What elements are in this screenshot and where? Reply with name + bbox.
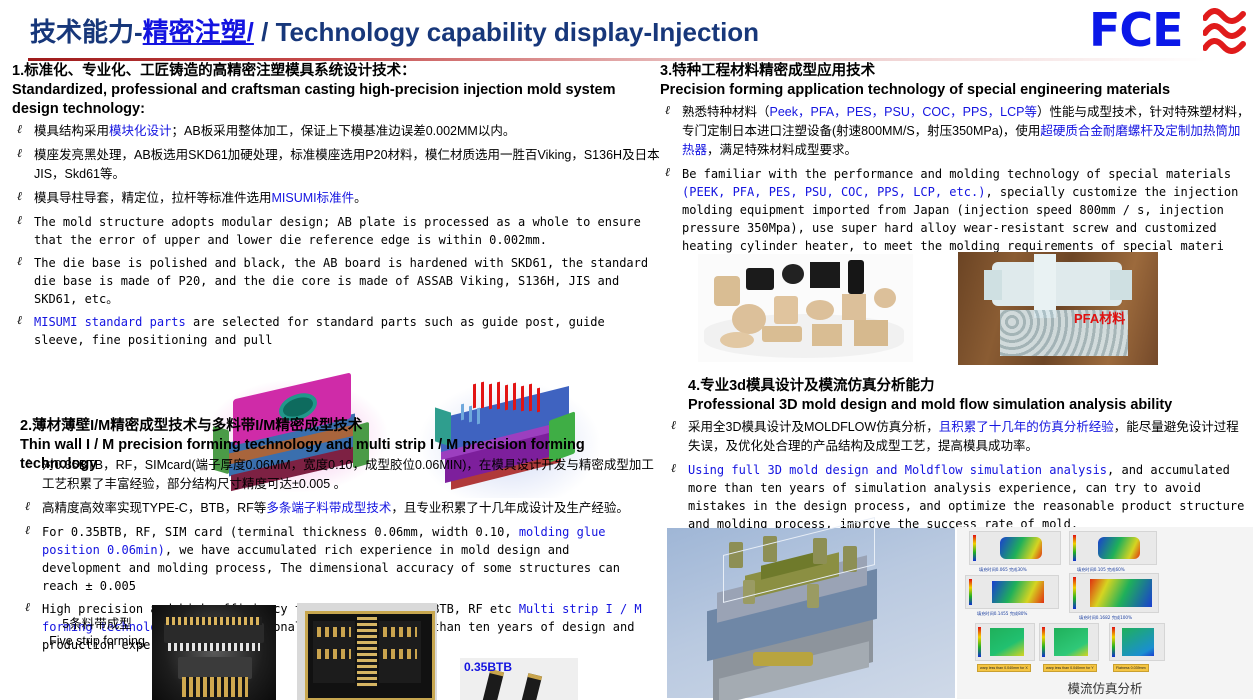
bullet-marker: ℓ bbox=[17, 254, 22, 269]
moldflow-cell-label: 填充时间0.1682 完成100% bbox=[1079, 615, 1132, 621]
bullet-text-run: ，且专业积累了十几年成设计及生产经验。 bbox=[391, 501, 629, 515]
bullet-item: ℓ高精度高效率实现TYPE-C，BTB，RF等多条端子料带成型技术，且专业积累了… bbox=[20, 499, 656, 518]
bullet-text: 模座发亮黑处理，AB板选用SKD61加硬处理，标准模座选用P20材料，模仁材质选… bbox=[34, 148, 660, 181]
bullet-marker: ℓ bbox=[25, 499, 30, 514]
logo-wordmark: FCE bbox=[1089, 4, 1183, 56]
bullet-text-run: 模座发亮黑处理，AB板选用SKD61加硬处理，标准模座选用P20材料，模仁材质选… bbox=[34, 148, 660, 181]
bullet-text: Using full 3D mold design and Moldflow s… bbox=[688, 463, 1244, 531]
bullet-text-run: ，满足特殊材料成型要求。 bbox=[707, 143, 857, 157]
moldflow-cell-label: 填充时间0.1455 完成80% bbox=[977, 611, 1027, 617]
connector-terminal-strip-photo bbox=[152, 605, 276, 700]
bullet-item: ℓUsing full 3D mold design and Moldflow … bbox=[666, 461, 1248, 533]
page-title: 技术能力-精密注塑/ / Technology capability displ… bbox=[30, 12, 759, 49]
bullet-text-run: 模块化设计 bbox=[109, 124, 172, 138]
bullet-marker: ℓ bbox=[25, 523, 30, 538]
moldflow-cell bbox=[1069, 531, 1157, 565]
bullet-marker: ℓ bbox=[17, 122, 22, 137]
wave-lines-icon bbox=[1203, 8, 1247, 54]
moldflow-cell bbox=[965, 575, 1059, 609]
bullet-item: ℓ模具导柱导套，精定位，拉杆等标准件选用MISUMI标准件。 bbox=[12, 189, 660, 208]
moldflow-tag: Flatness 0.039mm bbox=[1113, 664, 1149, 672]
peek-parts-photo bbox=[698, 254, 913, 362]
bullet-marker: ℓ bbox=[17, 213, 22, 228]
moldflow-cell bbox=[1039, 623, 1099, 661]
section-1-heading-en: Standardized, professional and craftsman… bbox=[12, 81, 660, 119]
connector-tray-photo bbox=[297, 603, 437, 700]
bullet-text-run: The die base is polished and black, the … bbox=[34, 256, 648, 306]
fce-logo: FCE bbox=[1089, 4, 1249, 56]
bullet-item: ℓ采用全3D模具设计及MOLDFLOW仿真分析，且积累了十几年的仿真分析经验，能… bbox=[666, 418, 1248, 456]
moldflow-cell bbox=[975, 623, 1035, 661]
section-4: 4.专业3d模具设计及模流仿真分析能力 Professional 3D mold… bbox=[688, 377, 1248, 538]
mold-3d-cad-render bbox=[667, 528, 955, 698]
section-4-bullets: ℓ采用全3D模具设计及MOLDFLOW仿真分析，且积累了十几年的仿真分析经验，能… bbox=[666, 418, 1248, 533]
bullet-text-run: High precision and high efficiency to ac… bbox=[42, 602, 519, 616]
bullet-text: MISUMI standard parts are selected for s… bbox=[34, 315, 605, 347]
section-3-bullets: ℓ熟悉特种材料（Peek，PFA，PES，PSU，COC，PPS，LCP等）性能… bbox=[660, 103, 1252, 255]
moldflow-tag: warp less than 0.040mm for Y bbox=[1043, 664, 1097, 672]
bullet-marker: ℓ bbox=[17, 189, 22, 204]
bullet-text-run: (PEEK, PFA, PES, PSU, COC, PPS, LCP, etc… bbox=[682, 185, 985, 199]
bullet-text: 采用全3D模具设计及MOLDFLOW仿真分析，且积累了十几年的仿真分析经验，能尽… bbox=[688, 420, 1239, 453]
bullet-text-run: 多条端子料带成型技术 bbox=[266, 501, 391, 515]
moldflow-cell bbox=[1109, 623, 1165, 661]
section-2-heading-en-text: Thin wall I / M precision forming techno… bbox=[20, 437, 585, 453]
bullet-text: The die base is polished and black, the … bbox=[34, 256, 648, 306]
moldflow-cell bbox=[1069, 573, 1159, 613]
bullet-marker: ℓ bbox=[17, 313, 22, 328]
section-2-heading-en: Thin wall I / M precision forming techno… bbox=[20, 436, 656, 455]
section-1-bullets: ℓ模具结构采用模块化设计；AB板采用整体加工，保证上下模基准边误差0.002MM… bbox=[12, 122, 660, 349]
bullet-item: ℓ对0.35BTB，RF，SIMcard(端子厚度0.06MM，宽度0.10，成… bbox=[20, 456, 656, 494]
title-divider bbox=[28, 58, 1208, 61]
bullet-text: 模具导柱导套，精定位，拉杆等标准件选用MISUMI标准件。 bbox=[34, 191, 367, 205]
page-title-en: / Technology capability display-Injectio… bbox=[254, 17, 759, 47]
bullet-text: The mold structure adopts modular design… bbox=[34, 215, 641, 247]
section-3: 3.特种工程材料精密成型应用技术 Precision forming appli… bbox=[660, 62, 1252, 255]
moldflow-cell bbox=[969, 531, 1061, 565]
bullet-text-run: 模具结构采用 bbox=[34, 124, 109, 138]
bullet-marker: ℓ bbox=[671, 418, 676, 433]
bullet-text-run: Using full 3D mold design and Moldflow s… bbox=[688, 463, 1107, 477]
section-1-heading-cn: 1.标准化、专业化、工匠铸造的高精密注塑模具系统设计技术： bbox=[12, 62, 660, 81]
page-title-cn-bright: 精密注塑/ bbox=[143, 17, 254, 47]
bullet-item: ℓBe familiar with the performance and mo… bbox=[660, 165, 1252, 255]
bullet-text-run: 。 bbox=[354, 191, 367, 205]
bullet-marker: ℓ bbox=[17, 146, 22, 161]
bullet-text-run: The mold structure adopts modular design… bbox=[34, 215, 641, 247]
bullet-text: 模具结构采用模块化设计；AB板采用整体加工，保证上下模基准边误差0.002MM以… bbox=[34, 124, 515, 138]
bullet-item: ℓ熟悉特种材料（Peek，PFA，PES，PSU，COC，PPS，LCP等）性能… bbox=[660, 103, 1252, 160]
page-title-cn-dark: 技术能力- bbox=[30, 17, 143, 47]
bullet-item: ℓ模座发亮黑处理，AB板选用SKD61加硬处理，标准模座选用P20材料，模仁材质… bbox=[12, 146, 660, 184]
bullet-item: ℓThe mold structure adopts modular desig… bbox=[12, 213, 660, 249]
moldflow-cell-label: 填充时间0.065 完成30% bbox=[979, 567, 1027, 573]
moldflow-simulation-grid: 填充时间0.065 完成30% 填充时间0.105 完成60% 填充时间0.14… bbox=[957, 527, 1253, 699]
bullet-text-run: 采用全3D模具设计及MOLDFLOW仿真分析， bbox=[688, 420, 939, 434]
moldflow-tag: warp less than 0.040mm for X bbox=[977, 664, 1031, 672]
slide-header: 技术能力-精密注塑/ / Technology capability displ… bbox=[0, 0, 1257, 62]
section-3-heading-cn: 3.特种工程材料精密成型应用技术 bbox=[660, 62, 1252, 81]
pfa-material-photo: PFA材料 bbox=[958, 252, 1158, 365]
bullet-item: ℓ模具结构采用模块化设计；AB板采用整体加工，保证上下模基准边误差0.002MM… bbox=[12, 122, 660, 141]
btb-photo-label: 0.35BTB bbox=[464, 660, 512, 674]
bullet-marker: ℓ bbox=[25, 600, 30, 615]
five-strip-caption-cn: 5条料带成型 bbox=[32, 616, 162, 633]
section-2-heading-en-overlap: technology bbox=[20, 455, 97, 474]
section-4-heading-cn: 4.专业3d模具设计及模流仿真分析能力 bbox=[688, 377, 1248, 396]
section-1: 1.标准化、专业化、工匠铸造的高精密注塑模具系统设计技术： Standardiz… bbox=[12, 62, 660, 349]
bullet-item: ℓMISUMI standard parts are selected for … bbox=[12, 313, 660, 349]
bullet-text-run: Be familiar with the performance and mol… bbox=[682, 167, 1231, 181]
bullet-text-run: 高精度高效率实现TYPE-C，BTB，RF等 bbox=[42, 501, 266, 515]
bullet-text-run: 模具导柱导套，精定位，拉杆等标准件选用 bbox=[34, 191, 272, 205]
bullet-text-run: For 0.35BTB, RF, SIM card (terminal thic… bbox=[42, 525, 519, 539]
bullet-text-run: Peek，PFA，PES，PSU，COC，PPS，LCP等 bbox=[770, 105, 1037, 119]
section-2-heading-cn: 2.薄材薄壁I/M精密成型技术与多料带I/M精密成型技术 bbox=[20, 417, 656, 436]
bullet-item: ℓThe die base is polished and black, the… bbox=[12, 254, 660, 308]
bullet-text-run: ；AB板采用整体加工，保证上下模基准边误差0.002MM以内。 bbox=[172, 124, 516, 138]
slide-root: 技术能力-精密注塑/ / Technology capability displ… bbox=[0, 0, 1257, 700]
bullet-marker: ℓ bbox=[665, 165, 670, 180]
bullet-text: 高精度高效率实现TYPE-C，BTB，RF等多条端子料带成型技术，且专业积累了十… bbox=[42, 501, 629, 515]
bullet-text-run: 熟悉特种材料（ bbox=[682, 105, 770, 119]
section-4-heading-en: Professional 3D mold design and mold flo… bbox=[688, 396, 1248, 415]
bullet-text: 熟悉特种材料（Peek，PFA，PES，PSU，COC，PPS，LCP等）性能与… bbox=[682, 105, 1249, 157]
pfa-photo-label: PFA材料 bbox=[1074, 308, 1125, 327]
bullet-text: 对0.35BTB，RF，SIMcard(端子厚度0.06MM，宽度0.10，成型… bbox=[42, 458, 654, 491]
bullet-text: For 0.35BTB, RF, SIM card (terminal thic… bbox=[42, 525, 620, 593]
bullet-item: ℓFor 0.35BTB, RF, SIM card (terminal thi… bbox=[20, 523, 656, 595]
left-column: 1.标准化、专业化、工匠铸造的高精密注塑模具系统设计技术： Standardiz… bbox=[12, 62, 660, 700]
five-strip-caption: 5条料带成型 Five strip forming bbox=[32, 616, 162, 650]
moldflow-caption: 模流仿真分析 bbox=[957, 678, 1253, 697]
bullet-marker: ℓ bbox=[671, 461, 676, 476]
five-strip-caption-en: Five strip forming bbox=[32, 633, 162, 650]
bullet-text-run: MISUMI标准件 bbox=[272, 191, 355, 205]
bullet-marker: ℓ bbox=[665, 103, 670, 118]
bullet-text: Be familiar with the performance and mol… bbox=[682, 167, 1238, 253]
bullet-text-run: 对0.35BTB，RF，SIMcard(端子厚度0.06MM，宽度0.10，成型… bbox=[42, 458, 654, 491]
section-3-heading-en: Precision forming application technology… bbox=[660, 81, 1252, 100]
bullet-text-run: 且积累了十几年的仿真分析经验 bbox=[939, 420, 1114, 434]
bullet-text-run: MISUMI standard parts bbox=[34, 315, 186, 329]
